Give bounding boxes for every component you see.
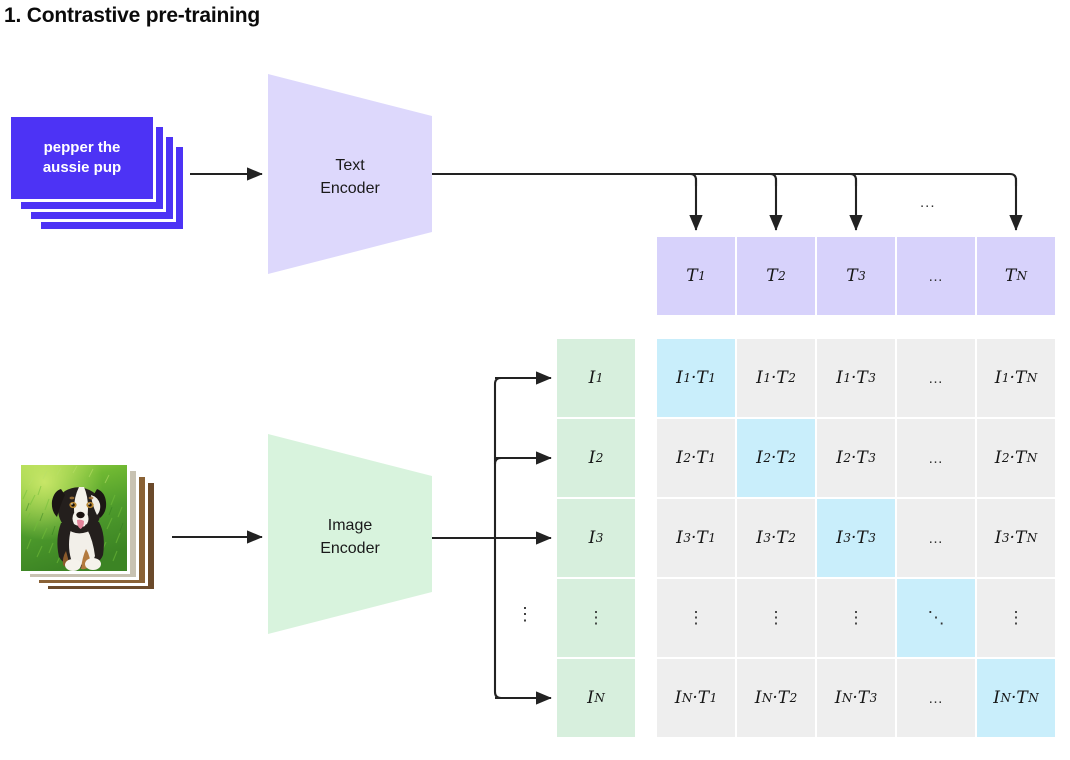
matrix-cell-5-1: IN·T1 bbox=[657, 659, 735, 737]
matrix-cell-1-1: I1·T1 bbox=[657, 339, 735, 417]
puppy-photo bbox=[21, 465, 127, 571]
matrix-cell-2-4: … bbox=[897, 419, 975, 497]
image-embedding-cell-3: I3 bbox=[557, 499, 635, 577]
matrix-cell-5-5: IN·TN bbox=[977, 659, 1055, 737]
matrix-cell-4-3: ⋮ bbox=[817, 579, 895, 657]
image-embedding-cell-1: I1 bbox=[557, 339, 635, 417]
matrix-cell-1-2: I1·T2 bbox=[737, 339, 815, 417]
image-trunk-up bbox=[495, 378, 507, 538]
matrix-cell-5-2: IN·T2 bbox=[737, 659, 815, 737]
text-embedding-cell-1: T1 bbox=[657, 237, 735, 315]
matrix-cell-4-4: ⋱ bbox=[897, 579, 975, 657]
matrix-cell-3-3: I3·T3 bbox=[817, 499, 895, 577]
matrix-cell-4-2: ⋮ bbox=[737, 579, 815, 657]
text-card-label: pepper the aussie pup bbox=[43, 138, 121, 179]
text-embedding-cell-3: T3 bbox=[817, 237, 895, 315]
matrix-cell-1-3: I1·T3 bbox=[817, 339, 895, 417]
text-branch-2 bbox=[770, 174, 776, 186]
text-embedding-ellipsis: ... bbox=[920, 194, 936, 211]
matrix-cell-5-3: IN·T3 bbox=[817, 659, 895, 737]
matrix-cell-4-5: ⋮ bbox=[977, 579, 1055, 657]
image-encoder-block[interactable]: Image Encoder bbox=[268, 434, 432, 634]
matrix-cell-1-4: … bbox=[897, 339, 975, 417]
matrix-cell-2-5: I2·TN bbox=[977, 419, 1055, 497]
photo-front bbox=[18, 462, 130, 574]
matrix-cell-2-2: I2·T2 bbox=[737, 419, 815, 497]
matrix-cell-3-4: … bbox=[897, 499, 975, 577]
image-embedding-cell-N: IN bbox=[557, 659, 635, 737]
image-input-stack bbox=[18, 462, 178, 592]
image-trunk-down bbox=[495, 538, 507, 698]
text-encoder-block[interactable]: Text Encoder bbox=[268, 74, 432, 274]
text-encoder-label: Text Encoder bbox=[268, 154, 432, 200]
text-trunk bbox=[432, 174, 1016, 186]
text-embedding-cell-N: TN bbox=[977, 237, 1055, 315]
matrix-cell-2-3: I2·T3 bbox=[817, 419, 895, 497]
page-title: 1. Contrastive pre-training bbox=[4, 4, 260, 28]
matrix-cell-1-5: I1·TN bbox=[977, 339, 1055, 417]
matrix-cell-2-1: I2·T1 bbox=[657, 419, 735, 497]
text-branch-3 bbox=[850, 174, 856, 186]
text-input-stack: pepper the aussie pup bbox=[8, 114, 188, 234]
text-card-front: pepper the aussie pup bbox=[8, 114, 156, 202]
text-embedding-cell-ellipsis: … bbox=[897, 237, 975, 315]
image-branch-2 bbox=[495, 458, 507, 464]
matrix-cell-3-2: I3·T2 bbox=[737, 499, 815, 577]
image-embedding-cell-2: I2 bbox=[557, 419, 635, 497]
text-embedding-cell-2: T2 bbox=[737, 237, 815, 315]
matrix-cell-5-4: … bbox=[897, 659, 975, 737]
matrix-cell-3-1: I3·T1 bbox=[657, 499, 735, 577]
text-branch-1 bbox=[690, 174, 696, 186]
matrix-cell-4-1: ⋮ bbox=[657, 579, 735, 657]
matrix-cell-3-5: I3·TN bbox=[977, 499, 1055, 577]
image-embedding-cell-ellipsis: ⋮ bbox=[557, 579, 635, 657]
image-embedding-ellipsis: ⋮ bbox=[516, 604, 534, 625]
image-encoder-label: Image Encoder bbox=[268, 514, 432, 560]
